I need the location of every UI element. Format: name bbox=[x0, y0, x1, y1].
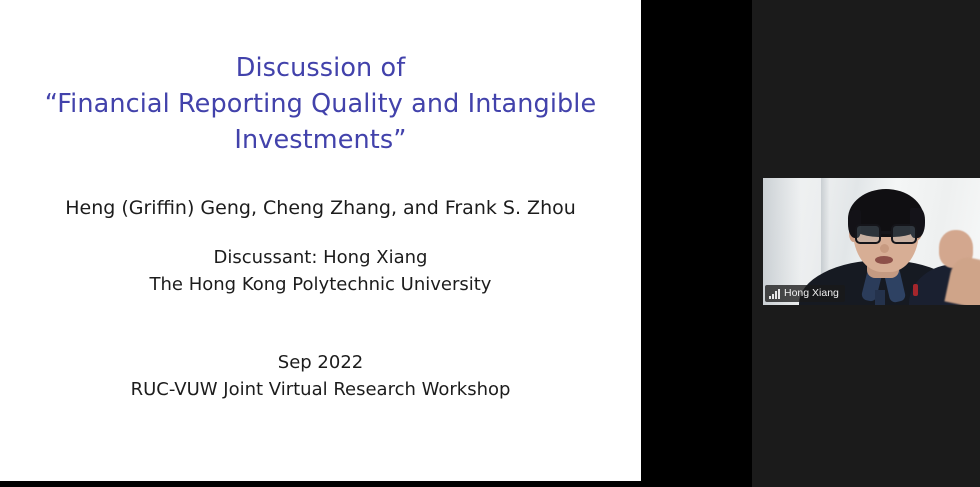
slide-title: Discussion of “Financial Reporting Quali… bbox=[40, 50, 601, 158]
slide-venue-block: Sep 2022 RUC-VUW Joint Virtual Research … bbox=[40, 349, 601, 403]
slide-date: Sep 2022 bbox=[40, 349, 601, 376]
glasses-lens-left bbox=[855, 224, 881, 244]
slide-discussant-affiliation: The Hong Kong Polytechnic University bbox=[40, 271, 601, 298]
slide-discussant-block: Discussant: Hong Xiang The Hong Kong Pol… bbox=[40, 244, 601, 298]
slide-bottom-strip bbox=[0, 481, 641, 487]
participant-mouth bbox=[875, 256, 893, 264]
participant-nose bbox=[880, 244, 889, 253]
signal-bars-icon bbox=[769, 289, 780, 299]
participant-glasses bbox=[855, 224, 919, 244]
participant-video-tile[interactable]: Hong Xiang bbox=[763, 178, 980, 305]
glasses-lens-right bbox=[891, 224, 917, 244]
slide-title-line-3: Investments” bbox=[40, 122, 601, 158]
glasses-bridge bbox=[881, 231, 891, 234]
participant-name-tag: Hong Xiang bbox=[765, 285, 845, 302]
slide-title-line-2: “Financial Reporting Quality and Intangi… bbox=[40, 86, 601, 122]
slide-discussant-name: Discussant: Hong Xiang bbox=[40, 244, 601, 271]
participant-shirt-placket bbox=[875, 290, 885, 305]
meeting-stage: Discussion of “Financial Reporting Quali… bbox=[0, 0, 980, 487]
slide-authors: Heng (Griffin) Geng, Cheng Zhang, and Fr… bbox=[40, 194, 601, 222]
participant-shirt-logo bbox=[913, 284, 918, 296]
slide-content: Discussion of “Financial Reporting Quali… bbox=[0, 0, 641, 481]
slide-title-line-1: Discussion of bbox=[40, 50, 601, 86]
shared-screen-slide[interactable]: Discussion of “Financial Reporting Quali… bbox=[0, 0, 641, 481]
slide-workshop-name: RUC-VUW Joint Virtual Research Workshop bbox=[40, 376, 601, 403]
stage-gutter bbox=[641, 0, 752, 487]
participant-name-label: Hong Xiang bbox=[784, 288, 839, 299]
